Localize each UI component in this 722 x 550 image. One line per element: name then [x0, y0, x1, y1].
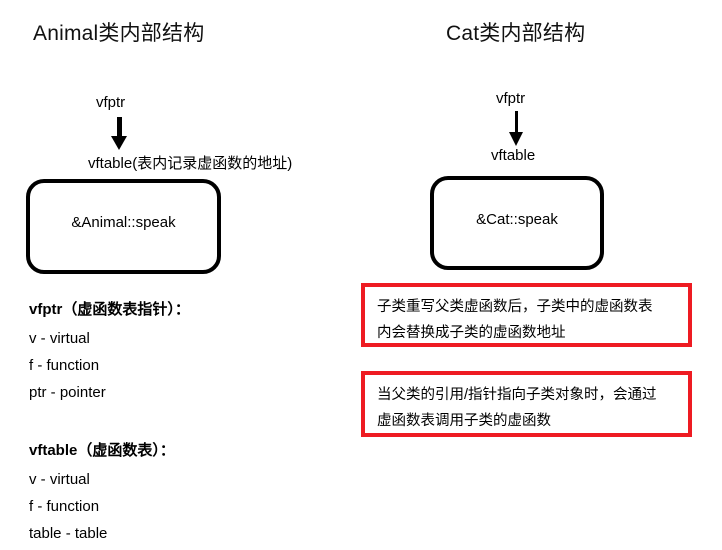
note-box-polymorphism: 当父类的引用/指针指向子类对象时，会通过 虚函数表调用子类的虚函数 [361, 371, 692, 437]
animal-vtable-entry: &Animal::speak [71, 214, 175, 231]
down-arrow-icon-cat [509, 111, 523, 146]
legend-vfptr-heading: vfptr（虚函数表指针）： [29, 298, 190, 319]
legend-vftable: vftable（虚函数表）： v - virtual f - function … [29, 439, 175, 550]
arrow-head [111, 136, 127, 150]
cat-vtable-box: &Cat::speak [430, 176, 604, 270]
legend-vftable-item-v: v - virtual [29, 469, 175, 490]
note-box-polymorphism-line-2: 虚函数表调用子类的虚函数 [377, 408, 688, 434]
animal-vfptr-label: vfptr [96, 94, 125, 111]
legend-vftable-heading: vftable（虚函数表）： [29, 439, 175, 460]
note-box-polymorphism-line-1: 当父类的引用/指针指向子类对象时，会通过 [377, 382, 688, 408]
animal-panel-title: Animal类内部结构 [33, 17, 204, 47]
legend-vftable-item-table: table - table [29, 523, 175, 544]
cat-vftable-label: vftable [491, 147, 535, 164]
cat-vfptr-label: vfptr [496, 90, 525, 107]
legend-vfptr: vfptr（虚函数表指针）： v - virtual f - function … [29, 298, 190, 409]
legend-vfptr-item-v: v - virtual [29, 328, 190, 349]
legend-vfptr-item-ptr: ptr - pointer [29, 382, 190, 403]
down-arrow-icon-animal [111, 117, 127, 150]
legend-vftable-item-f: f - function [29, 496, 175, 517]
diagram-canvas: Animal类内部结构 vfptr vftable(表内记录虚函数的地址) &A… [0, 0, 722, 549]
animal-vtable-box: &Animal::speak [26, 179, 221, 274]
note-box-override-line-1: 子类重写父类虚函数后，子类中的虚函数表 [377, 294, 688, 320]
animal-vftable-label: vftable(表内记录虚函数的地址) [88, 152, 292, 173]
arrow-head [509, 132, 523, 146]
legend-vfptr-item-f: f - function [29, 355, 190, 376]
note-box-override-line-2: 内会替换成子类的虚函数地址 [377, 320, 688, 346]
note-box-override: 子类重写父类虚函数后，子类中的虚函数表 内会替换成子类的虚函数地址 [361, 283, 692, 347]
cat-vtable-entry: &Cat::speak [476, 211, 558, 228]
cat-panel-title: Cat类内部结构 [446, 17, 585, 47]
